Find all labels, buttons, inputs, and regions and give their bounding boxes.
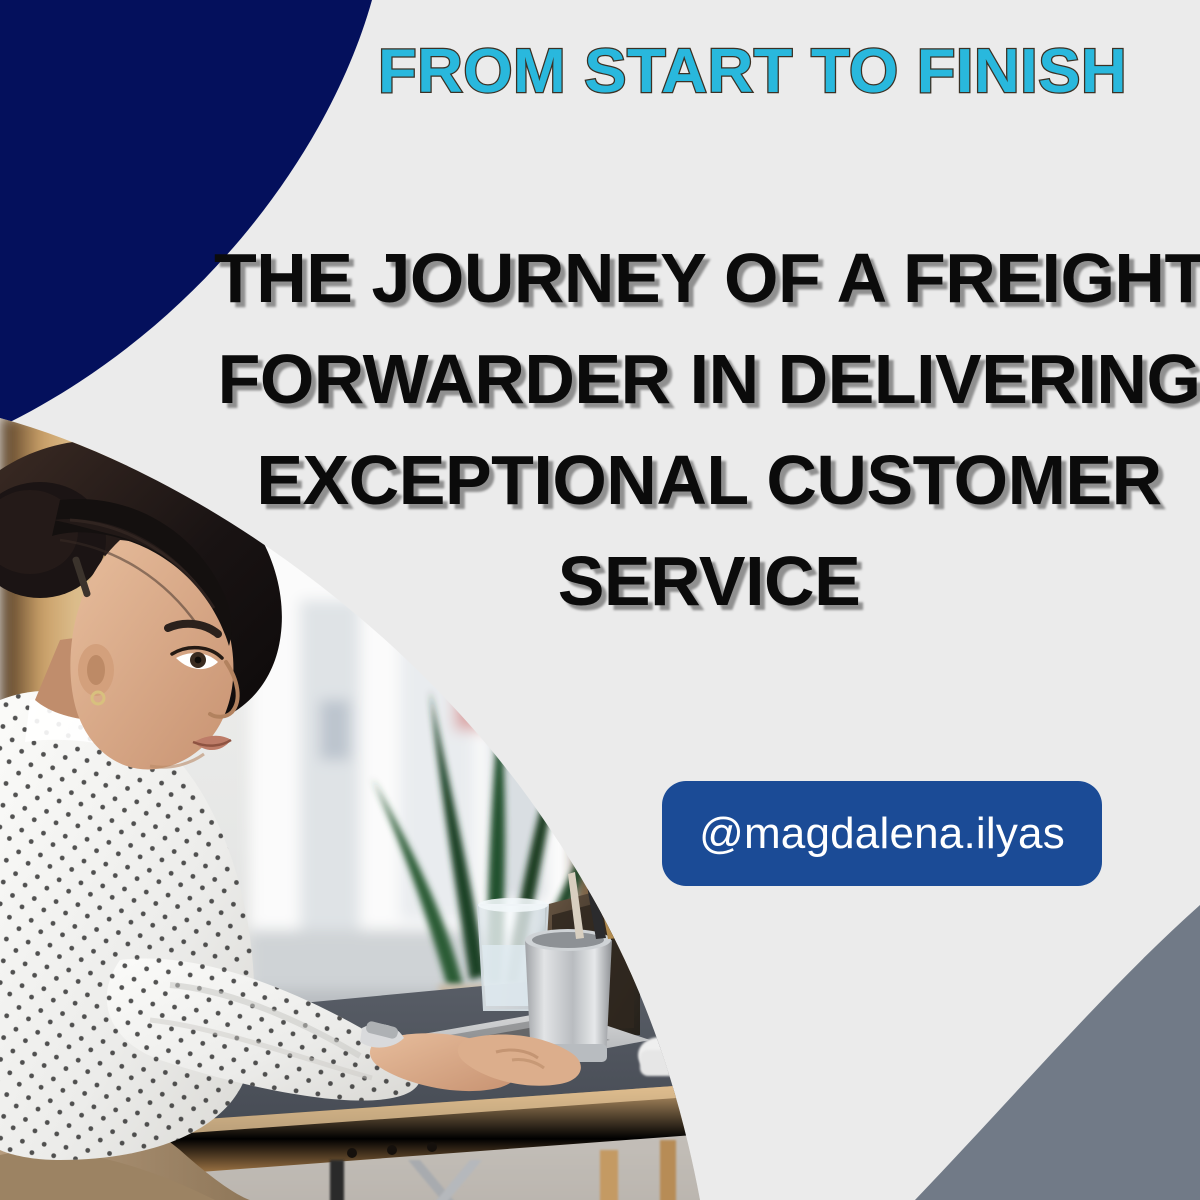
social-handle-badge[interactable]: @magdalena.ilyas	[662, 781, 1102, 886]
page-title: THE JOURNEY OF A FREIGHT FORWARDER IN DE…	[214, 228, 1200, 632]
eyebrow-text: FROM START TO FINISH	[378, 36, 1184, 108]
headline-line-1: THE JOURNEY OF A FREIGHT	[214, 228, 1200, 329]
headline-line-4: SERVICE	[214, 531, 1200, 632]
social-handle-text: @magdalena.ilyas	[699, 812, 1065, 856]
headline-line-2: FORWARDER IN DELIVERING	[214, 329, 1200, 430]
poster-canvas: FROM START TO FINISH THE JOURNEY OF A FR…	[0, 0, 1200, 1200]
headline-line-3: EXCEPTIONAL CUSTOMER	[214, 430, 1200, 531]
